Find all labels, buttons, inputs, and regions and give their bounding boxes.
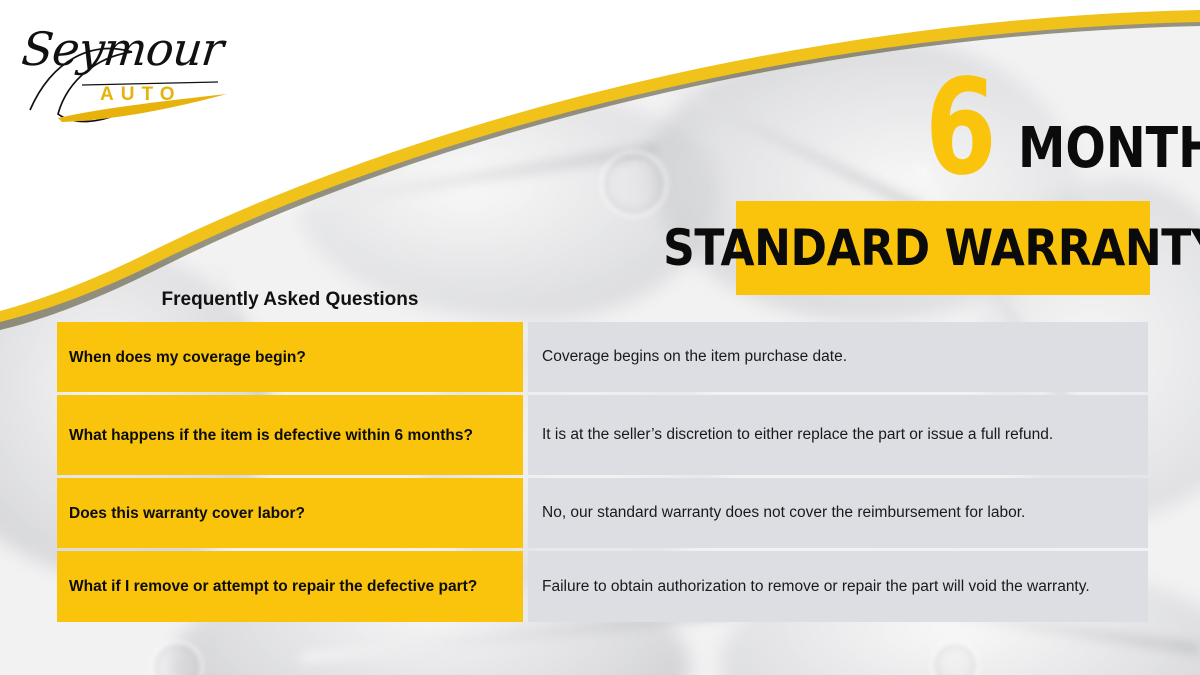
warranty-duration-number: 6 [925,68,994,188]
standard-warranty-label: STANDARD WARRANTY [663,219,1200,277]
faq-answer: It is at the seller’s discretion to eith… [528,395,1148,475]
faq-table: When does my coverage begin? Coverage be… [57,322,1148,625]
faq-answer: Failure to obtain authorization to remov… [528,551,1148,622]
faq-answer: No, our standard warranty does not cover… [528,478,1148,548]
table-row: When does my coverage begin? Coverage be… [57,322,1148,392]
faq-answer: Coverage begins on the item purchase dat… [528,322,1148,392]
faq-question: What if I remove or attempt to repair th… [57,551,523,622]
bg-bolt [600,150,668,218]
table-row: Does this warranty cover labor? No, our … [57,478,1148,548]
warranty-slide: Seymour AUTO 6 MONTH STANDARD WARRANTY F… [0,0,1200,675]
logo-swoosh-icon [22,22,252,132]
faq-question: When does my coverage begin? [57,322,523,392]
faq-question: What happens if the item is defective wi… [57,395,523,475]
brand-logo[interactable]: Seymour AUTO [22,22,252,132]
table-row: What if I remove or attempt to repair th… [57,551,1148,622]
faq-title: Frequently Asked Questions [57,289,523,311]
standard-warranty-banner: STANDARD WARRANTY [736,201,1150,295]
warranty-duration-unit: MONTH [1018,120,1200,178]
faq-question: Does this warranty cover labor? [57,478,523,548]
table-row: What happens if the item is defective wi… [57,395,1148,475]
